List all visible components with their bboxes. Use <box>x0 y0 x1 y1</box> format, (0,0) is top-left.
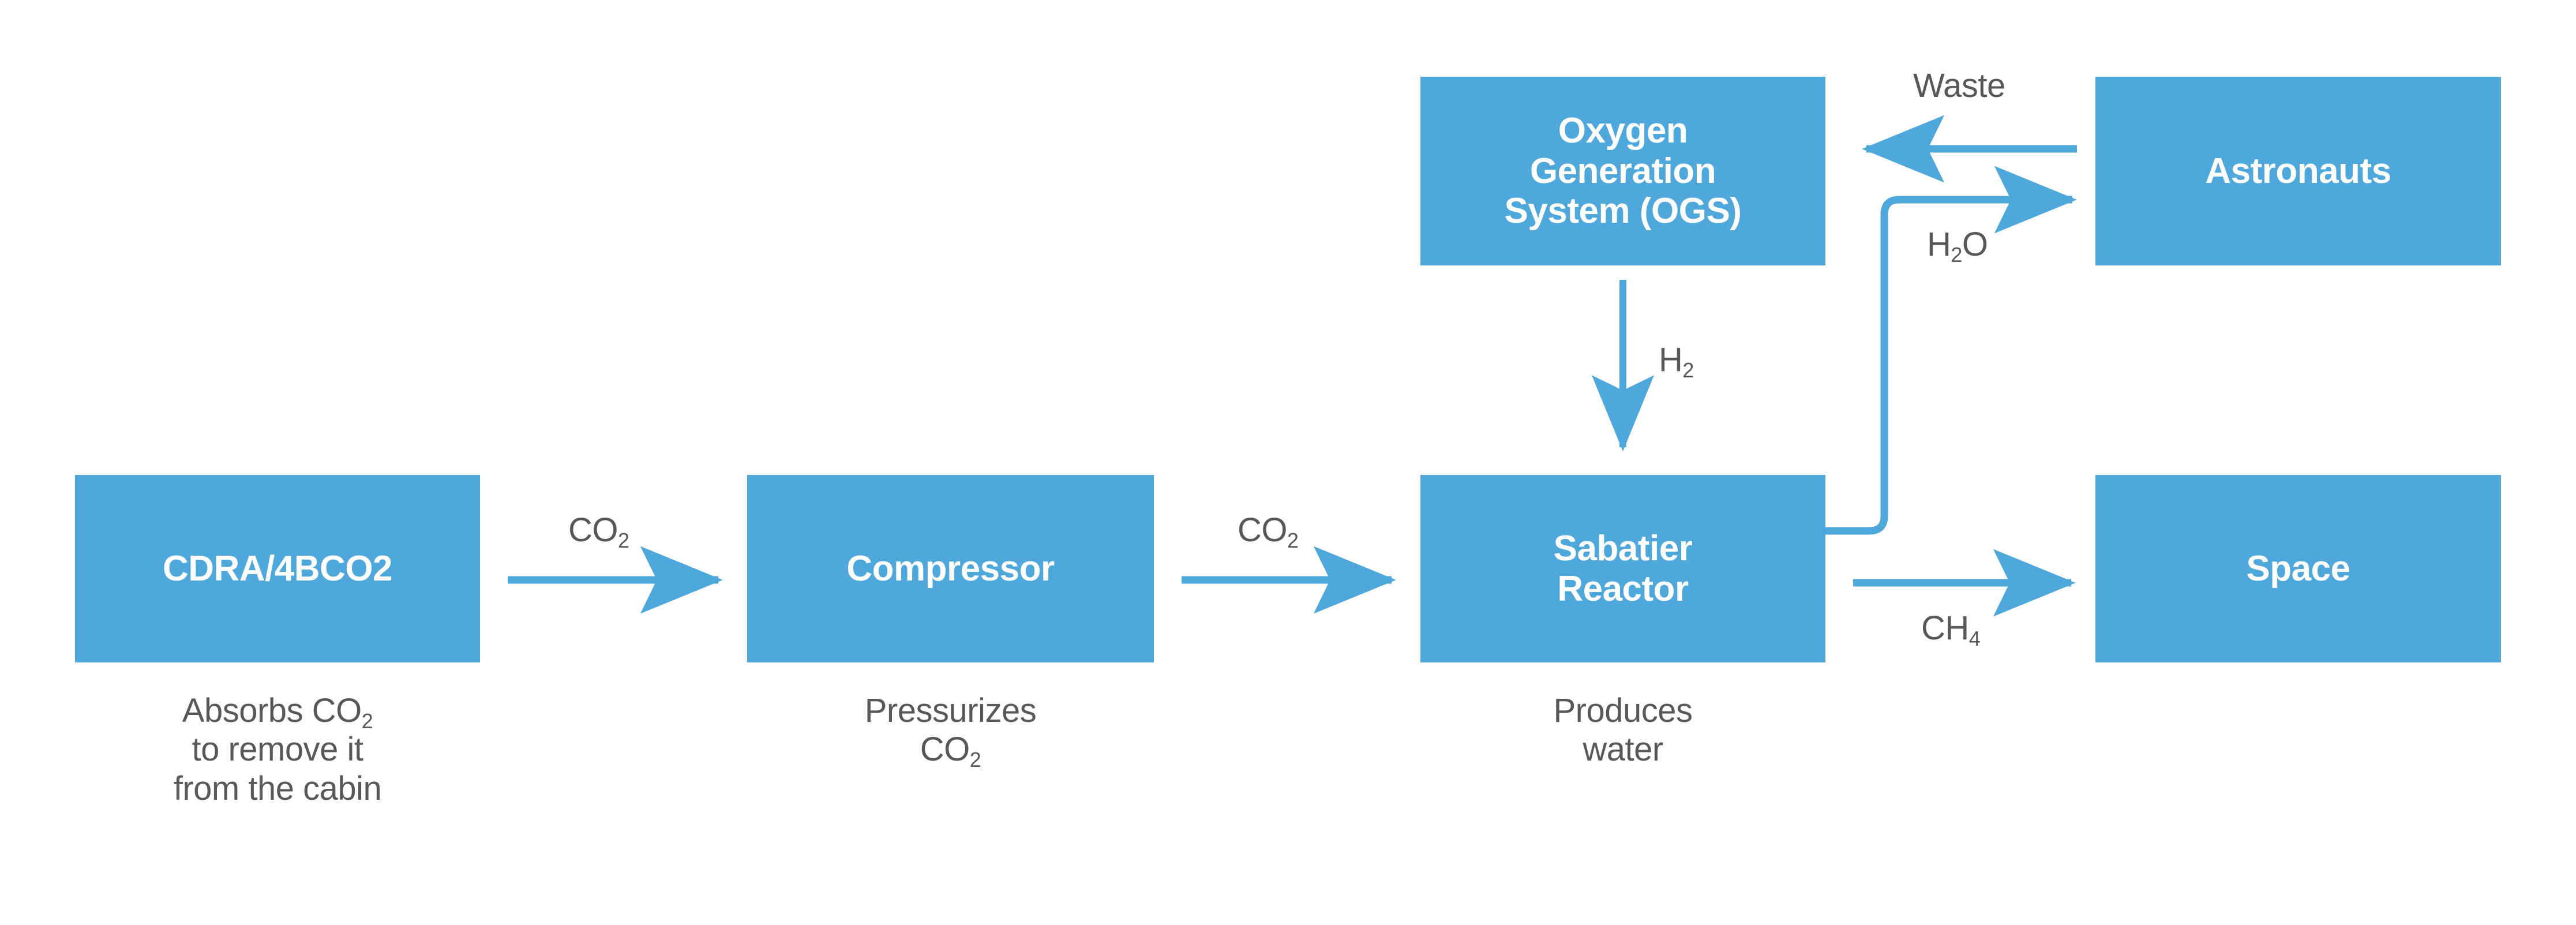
edge-label-co2-b-sub: 2 <box>1287 529 1299 552</box>
edge-label-co2-a-sub: 2 <box>618 529 629 552</box>
edge-label-h2-text: H <box>1659 341 1682 379</box>
caption-compressor: Pressurizes CO2 <box>747 691 1154 769</box>
node-compressor-label: Compressor <box>846 549 1054 589</box>
edge-label-h2o-text: H <box>1927 226 1951 263</box>
node-space-label: Space <box>2246 549 2350 589</box>
node-ogs-label-line1: Oxygen <box>1558 111 1688 151</box>
node-cdra-label: CDRA/4BCO2 <box>163 549 392 589</box>
caption-cdra-line1-sub: 2 <box>362 709 373 733</box>
caption-compressor-line2-text: CO <box>920 731 970 768</box>
node-astronauts-label: Astronauts <box>2205 151 2391 191</box>
node-sabatier-label-line1: Sabatier <box>1554 529 1693 568</box>
node-cdra[interactable]: CDRA/4BCO2 <box>75 475 480 662</box>
edge-label-ch4-sub: 4 <box>1969 627 1981 650</box>
edge-label-co2-b-text: CO <box>1238 511 1287 549</box>
caption-compressor-line2: CO2 <box>747 730 1154 769</box>
edge-label-waste: Waste <box>1913 66 2005 105</box>
caption-compressor-line1: Pressurizes <box>747 691 1154 730</box>
caption-cdra-line3: from the cabin <box>75 769 480 808</box>
caption-compressor-line2-sub: 2 <box>970 748 981 772</box>
caption-sabatier-line2: water <box>1420 730 1825 769</box>
node-compressor[interactable]: Compressor <box>747 475 1154 662</box>
edge-label-h2-sub: 2 <box>1682 358 1694 382</box>
edge-label-co2-cdra-compressor: CO2 <box>568 511 629 549</box>
node-oxygen-generation-system[interactable]: Oxygen Generation System (OGS) <box>1420 77 1825 265</box>
node-space[interactable]: Space <box>2095 475 2501 662</box>
edge-label-ch4-text: CH <box>1921 609 1969 647</box>
caption-sabatier-line1: Produces <box>1420 691 1825 730</box>
edge-label-ch4: CH4 <box>1921 609 1980 647</box>
edge-label-h2o: H2O <box>1927 225 1988 264</box>
node-sabatier-label-line2: Reactor <box>1557 569 1688 609</box>
node-astronauts[interactable]: Astronauts <box>2095 77 2501 265</box>
node-ogs-label-line2: Generation <box>1530 151 1716 191</box>
edge-label-h2o-tail: O <box>1962 226 1988 263</box>
edge-label-co2-compressor-sabatier: CO2 <box>1238 511 1299 549</box>
caption-cdra-line1-text: Absorbs CO <box>182 692 362 729</box>
edge-label-h2o-sub: 2 <box>1951 243 1962 267</box>
caption-sabatier: Produces water <box>1420 691 1825 769</box>
edge-label-h2: H2 <box>1659 340 1694 379</box>
node-ogs-label-line3: System (OGS) <box>1505 191 1742 231</box>
diagram-canvas: CDRA/4BCO2 Compressor Sabatier Reactor O… <box>0 0 2576 925</box>
caption-cdra: Absorbs CO2 to remove it from the cabin <box>75 691 480 808</box>
node-sabatier-reactor[interactable]: Sabatier Reactor <box>1420 475 1825 662</box>
caption-cdra-line2: to remove it <box>75 730 480 769</box>
edge-label-co2-a-text: CO <box>568 511 618 549</box>
caption-cdra-line1: Absorbs CO2 <box>75 691 480 730</box>
